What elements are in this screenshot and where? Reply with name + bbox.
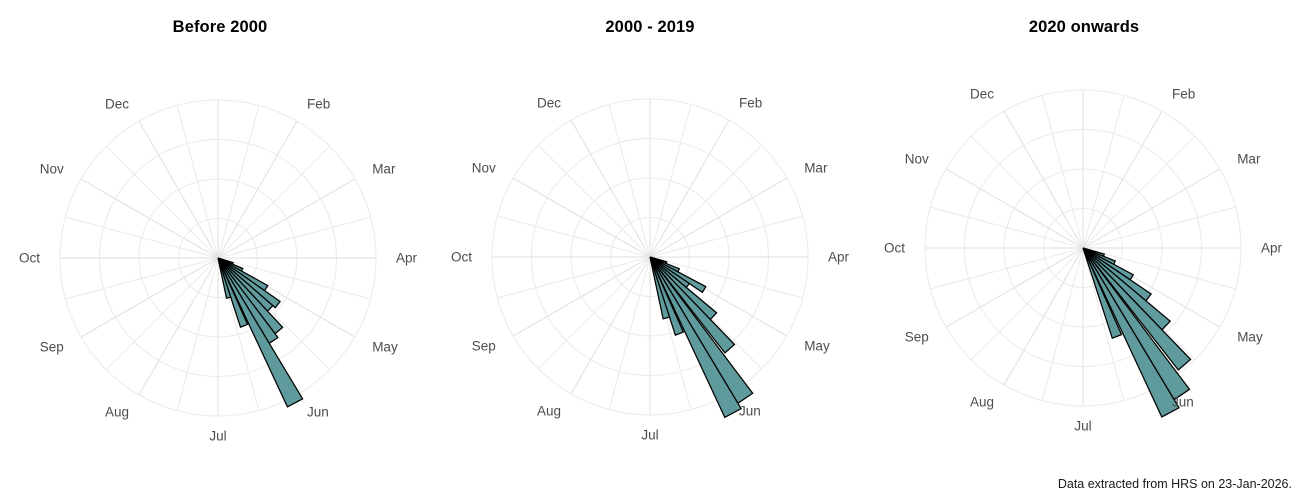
grid-spoke bbox=[930, 207, 1083, 248]
month-label-nov: Nov bbox=[472, 161, 496, 176]
petal-group bbox=[218, 258, 303, 407]
grid-spoke bbox=[571, 257, 650, 394]
grid-spoke bbox=[538, 145, 650, 257]
figure-caption: Data extracted from HRS on 23-Jan-2026. bbox=[1058, 477, 1292, 491]
month-label-jun: Jun bbox=[739, 404, 761, 419]
polar-rose-figure: Before 2000AprMayJunJulAugSepOctNovDecFe… bbox=[0, 0, 1300, 500]
polar-plot: AprMayJunJulAugSepOctNovDecFebMar bbox=[435, 0, 865, 500]
grid-spoke bbox=[106, 146, 218, 258]
month-label-sep: Sep bbox=[472, 339, 496, 354]
grid-spoke bbox=[971, 248, 1083, 360]
chart-panel-3: 2020 onwardsAprMayJunJulAugSepOctNovDecF… bbox=[868, 0, 1300, 500]
grid-spoke bbox=[497, 257, 650, 298]
grid-spoke bbox=[650, 178, 787, 257]
month-label-sep: Sep bbox=[40, 340, 64, 355]
month-label-sep: Sep bbox=[905, 330, 929, 345]
month-label-mar: Mar bbox=[804, 161, 828, 176]
grid-spoke bbox=[609, 257, 650, 410]
chart-panel-1: Before 2000AprMayJunJulAugSepOctNovDecFe… bbox=[0, 0, 440, 500]
polar-plot: AprMayJunJulAugSepOctNovDecFebMar bbox=[868, 0, 1300, 500]
grid-spoke bbox=[1042, 95, 1083, 248]
month-label-oct: Oct bbox=[19, 251, 40, 266]
grid-spoke bbox=[650, 216, 803, 257]
month-label-jun: Jun bbox=[307, 405, 329, 420]
month-label-jul: Jul bbox=[1074, 419, 1091, 434]
grid-spoke bbox=[139, 258, 218, 395]
grid-spoke bbox=[218, 146, 330, 258]
month-label-aug: Aug bbox=[105, 405, 129, 420]
grid-spoke bbox=[218, 179, 355, 258]
petal-wedge bbox=[650, 257, 753, 403]
grid-spoke bbox=[609, 104, 650, 257]
grid-spoke bbox=[81, 258, 218, 337]
month-label-dec: Dec bbox=[537, 95, 561, 110]
month-label-mar: Mar bbox=[372, 162, 396, 177]
grid-spoke bbox=[1083, 136, 1195, 248]
month-label-mar: Mar bbox=[1237, 152, 1261, 167]
month-label-may: May bbox=[372, 340, 398, 355]
grid-spoke bbox=[177, 258, 218, 411]
month-label-nov: Nov bbox=[40, 162, 64, 177]
grid-spoke bbox=[650, 120, 729, 257]
grid-spoke bbox=[650, 145, 762, 257]
month-label-apr: Apr bbox=[396, 251, 418, 266]
grid-spoke bbox=[538, 257, 650, 369]
grid-spoke bbox=[81, 179, 218, 258]
grid-spoke bbox=[1042, 248, 1083, 401]
grid-spoke bbox=[1004, 248, 1083, 385]
month-label-may: May bbox=[804, 339, 830, 354]
month-label-feb: Feb bbox=[739, 95, 762, 110]
grid-spoke bbox=[513, 257, 650, 336]
grid-spoke bbox=[177, 105, 218, 258]
month-label-jul: Jul bbox=[209, 429, 226, 444]
grid-spoke bbox=[106, 258, 218, 370]
grid-spoke bbox=[650, 104, 691, 257]
grid-spoke bbox=[946, 248, 1083, 327]
month-label-feb: Feb bbox=[1172, 86, 1195, 101]
grid-spoke bbox=[1004, 111, 1083, 248]
grid-spoke bbox=[65, 258, 218, 299]
month-label-may: May bbox=[1237, 330, 1263, 345]
grid-spoke bbox=[65, 217, 218, 258]
grid-spoke bbox=[971, 136, 1083, 248]
month-label-jun: Jun bbox=[1172, 395, 1194, 410]
petal-wedge bbox=[218, 258, 303, 407]
grid-spoke bbox=[946, 169, 1083, 248]
grid-spoke bbox=[139, 121, 218, 258]
petal-group bbox=[1083, 248, 1191, 417]
grid-spoke bbox=[218, 105, 259, 258]
grid-spoke bbox=[1083, 111, 1162, 248]
grid-spoke bbox=[930, 248, 1083, 289]
grid-spoke bbox=[218, 217, 371, 258]
grid-spoke bbox=[1083, 169, 1220, 248]
grid-spoke bbox=[497, 216, 650, 257]
month-label-apr: Apr bbox=[1261, 241, 1283, 256]
grid-spoke bbox=[513, 178, 650, 257]
month-label-dec: Dec bbox=[105, 96, 129, 111]
chart-panel-2: 2000 - 2019AprMayJunJulAugSepOctNovDecFe… bbox=[435, 0, 865, 500]
month-label-jul: Jul bbox=[641, 428, 658, 443]
month-label-nov: Nov bbox=[905, 152, 929, 167]
month-label-apr: Apr bbox=[828, 250, 850, 265]
month-label-feb: Feb bbox=[307, 96, 330, 111]
month-label-oct: Oct bbox=[884, 241, 905, 256]
grid-spoke bbox=[571, 120, 650, 257]
month-label-aug: Aug bbox=[970, 395, 994, 410]
month-label-oct: Oct bbox=[451, 250, 472, 265]
grid-spoke bbox=[1083, 207, 1236, 248]
polar-plot: AprMayJunJulAugSepOctNovDecFebMar bbox=[0, 0, 440, 500]
month-label-dec: Dec bbox=[970, 86, 994, 101]
month-label-aug: Aug bbox=[537, 404, 561, 419]
grid-spoke bbox=[1083, 95, 1124, 248]
grid-spoke bbox=[218, 121, 297, 258]
